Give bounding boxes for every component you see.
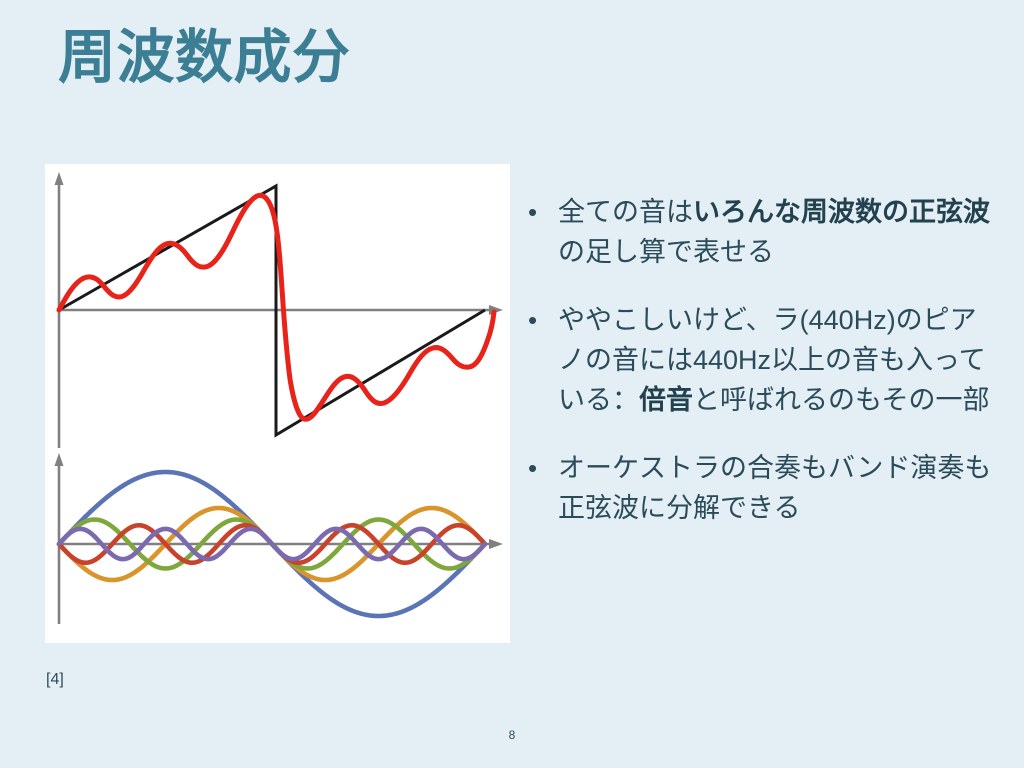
- citation-reference: [4]: [46, 672, 64, 688]
- bottom-chart-x-axis-arrow: [489, 539, 503, 549]
- bottom-chart-y-axis-arrow: [55, 453, 64, 466]
- bullet-marker-icon: •: [528, 300, 558, 340]
- bullet-text-2: ややこしいけど、ラ(440Hz)のピアノの音には440Hz以上の音も入っている：…: [558, 300, 998, 420]
- page-number: 8: [0, 728, 1024, 742]
- slide-root: 周波数成分: [0, 0, 1024, 768]
- bullet-text-3: オーケストラの合奏もバンド演奏も正弦波に分解できる: [558, 448, 998, 528]
- bullet-item-3: • オーケストラの合奏もバンド演奏も正弦波に分解できる: [528, 448, 998, 528]
- bullet-item-2: • ややこしいけど、ラ(440Hz)のピアノの音には440Hz以上の音も入ってい…: [528, 300, 998, 420]
- bullet-marker-icon: •: [528, 192, 558, 232]
- bullet-list: • 全ての音はいろんな周波数の正弦波の足し算で表せる • ややこしいけど、ラ(4…: [528, 192, 998, 556]
- chart-sine-harmonics: [55, 453, 504, 624]
- top-chart-y-axis-arrow: [55, 172, 64, 185]
- chart-sawtooth-fourier: [55, 172, 504, 448]
- bullet-item-1: • 全ての音はいろんな周波数の正弦波の足し算で表せる: [528, 192, 998, 272]
- figure-panel: [45, 164, 510, 643]
- bullet-text-1: 全ての音はいろんな周波数の正弦波の足し算で表せる: [558, 192, 998, 272]
- waveform-figure: [45, 164, 510, 643]
- page-title: 周波数成分: [58, 28, 351, 89]
- bullet-marker-icon: •: [528, 448, 558, 488]
